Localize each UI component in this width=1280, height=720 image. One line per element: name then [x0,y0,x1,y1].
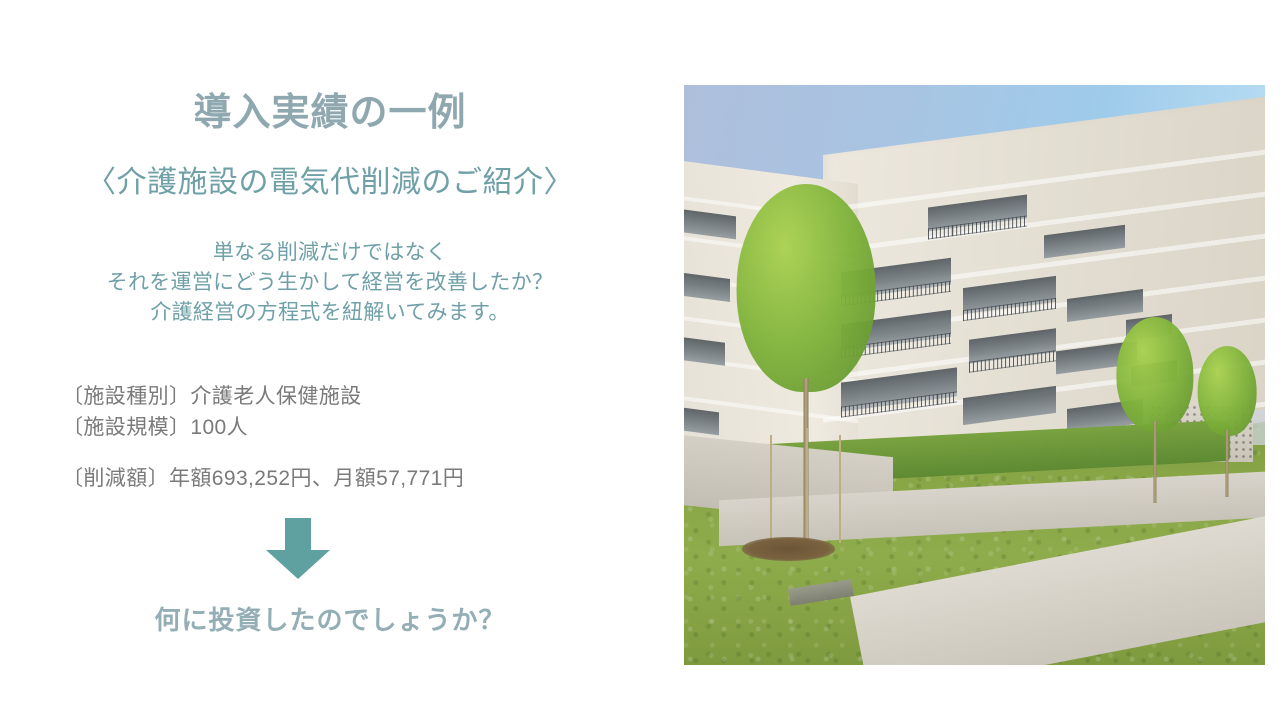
tree-stake [806,428,808,543]
down-arrow-icon [264,518,332,580]
background-tree [1195,346,1259,497]
facility-scale-line: 〔施設規模〕100人 [62,412,362,443]
tree-crown [1198,346,1257,436]
slide-subtitle: 〈介護施設の電気代削減のご紹介〉 [0,165,660,201]
facility-type-line: 〔施設種別〕介護老人保健施設 [62,381,362,412]
midground-tree [1114,317,1195,503]
tree-mulch-bed [742,537,835,560]
tree-trunk [1153,421,1156,503]
tree-trunk [1226,430,1229,496]
tree-crown [1116,317,1193,432]
lead-line-1: 単なる削減だけではなく [0,238,660,268]
savings-amount-line: 〔削減額〕年額693,252円、月額57,771円 [62,462,464,492]
lead-paragraph: 単なる削減だけではなく それを運営にどう生かして経営を改善したか？ 介護経営の方… [0,238,660,327]
tree-stake [839,435,841,543]
lead-line-2: それを運営にどう生かして経営を改善したか？ [0,268,660,298]
slide-canvas: 導入実績の一例 〈介護施設の電気代削減のご紹介〉 単なる削減だけではなく それを… [0,0,1280,720]
closing-question: 何に投資したのでしょうか？ [0,600,660,637]
facility-details: 〔施設種別〕介護老人保健施設 〔施設規模〕100人 [62,381,362,443]
foreground-tree [730,184,881,544]
page-title: 導入実績の一例 [0,92,660,136]
tree-stake [770,435,772,543]
ground-floor-glass [684,408,719,436]
tree-crown [737,184,876,393]
lead-line-3: 介護経営の方程式を紐解いてみます。 [0,298,660,328]
facility-photo-illustration [684,85,1265,665]
facility-photo [684,85,1265,665]
left-content-column: 導入実績の一例 〈介護施設の電気代削減のご紹介〉 単なる削減だけではなく それを… [0,0,660,720]
